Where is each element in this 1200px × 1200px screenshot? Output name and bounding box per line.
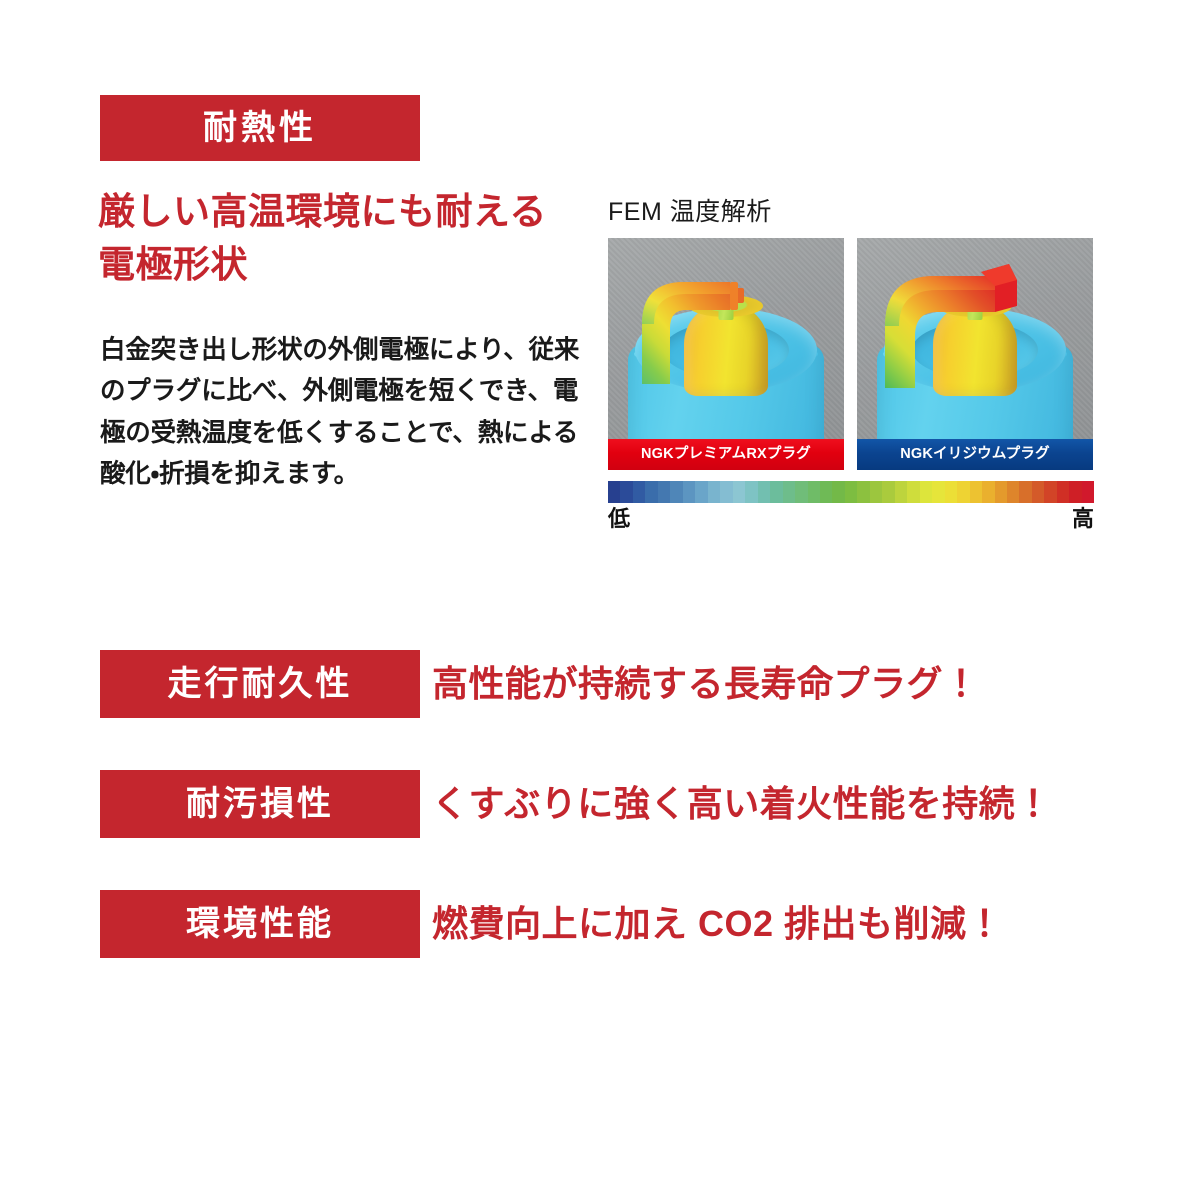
scale-band-4 [658, 481, 670, 503]
scale-band-17 [820, 481, 832, 503]
scale-band-28 [957, 481, 969, 503]
scale-band-30 [982, 481, 994, 503]
temperature-color-scale: 低 高 [608, 481, 1094, 531]
scale-band-5 [670, 481, 682, 503]
scale-band-2 [633, 481, 645, 503]
scale-band-38 [1082, 481, 1094, 503]
feature-badge-durability: 走行耐久性 [100, 650, 420, 718]
heat-resistance-headline: 厳しい高温環境にも耐える 電極形状 [98, 186, 578, 291]
scale-band-10 [733, 481, 745, 503]
feature-description: くすぶりに強く高い着火性能を持続！ [432, 770, 1052, 838]
temperature-scale-labels: 低 高 [608, 507, 1094, 531]
scale-band-20 [857, 481, 869, 503]
scale-band-29 [970, 481, 982, 503]
feature-badge-fouling-resistance: 耐汚損性 [100, 770, 420, 838]
scale-band-36 [1057, 481, 1069, 503]
scale-label-high: 高 [1072, 507, 1094, 531]
fem-panel-group: NGKプレミアムRXプラグ [608, 238, 1094, 470]
panel-caption-iridium-label: NGKイリジウムプラグ [900, 447, 1050, 462]
scale-band-22 [882, 481, 894, 503]
fem-analysis-title: FEM 温度解析 [608, 200, 1094, 225]
feature-badge-label: 環境性能 [186, 907, 334, 941]
scale-band-35 [1044, 481, 1056, 503]
panel-caption-premium-rx-label: NGKプレミアムRXプラグ [641, 447, 811, 462]
scale-band-1 [620, 481, 632, 503]
scale-band-37 [1069, 481, 1081, 503]
feature-row: 走行耐久性 高性能が持続する長寿命プラグ！ [0, 640, 1200, 760]
scale-band-14 [783, 481, 795, 503]
headline-line-2: 電極形状 [98, 239, 578, 292]
heat-resistance-section: 耐熱性 厳しい高温環境にも耐える 電極形状 白金突き出し形状の外側電極により、従… [0, 0, 1200, 560]
scale-band-26 [932, 481, 944, 503]
scale-band-3 [645, 481, 657, 503]
scale-band-21 [870, 481, 882, 503]
scale-band-27 [945, 481, 957, 503]
headline-line-1: 厳しい高温環境にも耐える [98, 186, 578, 239]
feature-row: 耐汚損性 くすぶりに強く高い着火性能を持続！ [0, 760, 1200, 880]
scale-band-18 [832, 481, 844, 503]
ground-electrode-thermal-map [869, 250, 1039, 420]
feature-badge-environmental: 環境性能 [100, 890, 420, 958]
scale-band-11 [745, 481, 757, 503]
ground-electrode-thermal-map [626, 254, 776, 414]
scale-band-32 [1007, 481, 1019, 503]
scale-band-34 [1032, 481, 1044, 503]
scale-band-33 [1019, 481, 1031, 503]
feature-description: 高性能が持続する長寿命プラグ！ [432, 650, 980, 718]
feature-badge-label: 耐汚損性 [186, 787, 334, 821]
scale-band-7 [695, 481, 707, 503]
scale-band-12 [758, 481, 770, 503]
panel-caption-premium-rx: NGKプレミアムRXプラグ [608, 439, 844, 470]
scale-band-0 [608, 481, 620, 503]
heat-resistance-body-text: 白金突き出し形状の外側電極により、従来のプラグに比べ、外側電極を短くでき、電極の… [100, 330, 592, 495]
fem-analysis-block: FEM 温度解析 [608, 200, 1094, 531]
scale-band-9 [720, 481, 732, 503]
scale-band-25 [920, 481, 932, 503]
scale-band-15 [795, 481, 807, 503]
scale-band-24 [907, 481, 919, 503]
feature-row: 環境性能 燃費向上に加え CO2 排出も削減！ [0, 880, 1200, 1000]
scale-band-31 [995, 481, 1007, 503]
scale-band-23 [895, 481, 907, 503]
panel-caption-iridium: NGKイリジウムプラグ [857, 439, 1093, 470]
scale-band-6 [683, 481, 695, 503]
scale-band-19 [845, 481, 857, 503]
feature-description: 燃費向上に加え CO2 排出も削減！ [432, 890, 1003, 958]
scale-band-8 [708, 481, 720, 503]
feature-rows-section: 走行耐久性 高性能が持続する長寿命プラグ！ 耐汚損性 くすぶりに強く高い着火性能… [0, 640, 1200, 1000]
fem-panel-iridium: NGKイリジウムプラグ [857, 238, 1093, 470]
scale-band-13 [770, 481, 782, 503]
temperature-color-bar [608, 481, 1094, 503]
scale-label-low: 低 [608, 507, 630, 531]
scale-band-16 [808, 481, 820, 503]
heat-resistance-badge: 耐熱性 [100, 95, 420, 161]
fem-panel-premium-rx: NGKプレミアムRXプラグ [608, 238, 844, 470]
feature-badge-label: 走行耐久性 [168, 667, 353, 701]
heat-resistance-badge-label: 耐熱性 [203, 111, 317, 145]
